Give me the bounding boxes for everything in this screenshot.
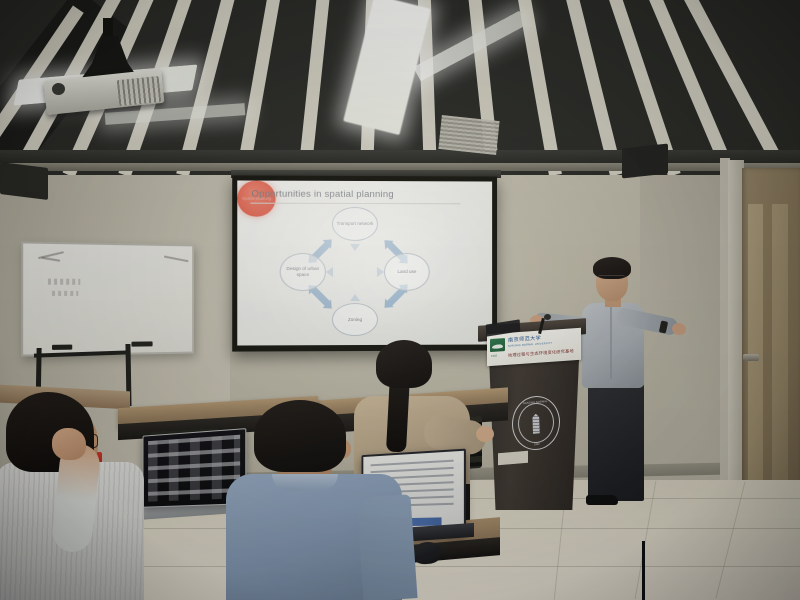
projection-screen: Opportunities in spatial planning Transp… bbox=[232, 175, 497, 351]
diagram-node-zoning: Zoning bbox=[332, 303, 378, 336]
diagram-arrow-up bbox=[350, 244, 360, 251]
audience-member-white-shirt bbox=[0, 392, 174, 600]
whiteboard-mark bbox=[164, 256, 188, 262]
woman-hair bbox=[376, 340, 432, 388]
whiteboard-marker bbox=[52, 345, 72, 350]
presenter-leg-split bbox=[642, 541, 645, 600]
whiteboard-marker bbox=[131, 341, 152, 346]
presenter-legs bbox=[588, 381, 644, 501]
door-panel bbox=[748, 204, 763, 494]
podium-sign-year: 1902 bbox=[491, 354, 497, 358]
presenter-glasses bbox=[598, 275, 625, 282]
door-panel bbox=[772, 204, 788, 494]
woman-hand bbox=[476, 426, 494, 442]
blue-shirt-shoulder bbox=[356, 494, 417, 600]
slide-surface: Opportunities in spatial planning Transp… bbox=[237, 180, 492, 345]
wall-speaker-left bbox=[0, 162, 48, 200]
whiteboard-mark bbox=[48, 279, 80, 285]
presenter-shoe bbox=[586, 495, 618, 505]
whiteboard bbox=[21, 241, 194, 356]
diagram-arrow-down bbox=[350, 294, 360, 301]
slide-title: Opportunities in spatial planning bbox=[251, 189, 393, 201]
slide-title-underline bbox=[250, 203, 460, 205]
whiteboard-mark bbox=[42, 257, 60, 262]
man-hair bbox=[254, 400, 346, 472]
blue-shirt-collar bbox=[272, 474, 338, 490]
presenter-shirt-placket bbox=[610, 307, 612, 379]
podium-emblem: NANJING NORMAL 1902 bbox=[511, 394, 561, 452]
diagram-node-transport-network: Transport network bbox=[332, 207, 378, 241]
whiteboard-mark bbox=[52, 291, 78, 296]
man-hand bbox=[52, 428, 86, 460]
door-handle[interactable] bbox=[743, 354, 759, 361]
wooden-door[interactable] bbox=[742, 168, 800, 518]
projector-vents bbox=[117, 76, 161, 106]
podium-microphone-head bbox=[544, 314, 551, 320]
lecture-room-photo: Opportunities in spatial planning Transp… bbox=[0, 0, 800, 600]
air-vent bbox=[438, 115, 499, 155]
wall-speaker-right bbox=[622, 144, 668, 179]
university-logo-icon bbox=[490, 338, 505, 352]
audience-member-blue-shirt bbox=[232, 400, 432, 600]
podium-sign-subtitle: 地理过程与生态环境变化研究基地 bbox=[508, 348, 574, 359]
diagram-node-design-of-urban-space: Design of urban space bbox=[280, 253, 326, 291]
diagram-node-land-use: Land use bbox=[384, 253, 430, 291]
diagram-arrow-left bbox=[326, 267, 333, 277]
diagram-arrow-right bbox=[377, 267, 384, 277]
